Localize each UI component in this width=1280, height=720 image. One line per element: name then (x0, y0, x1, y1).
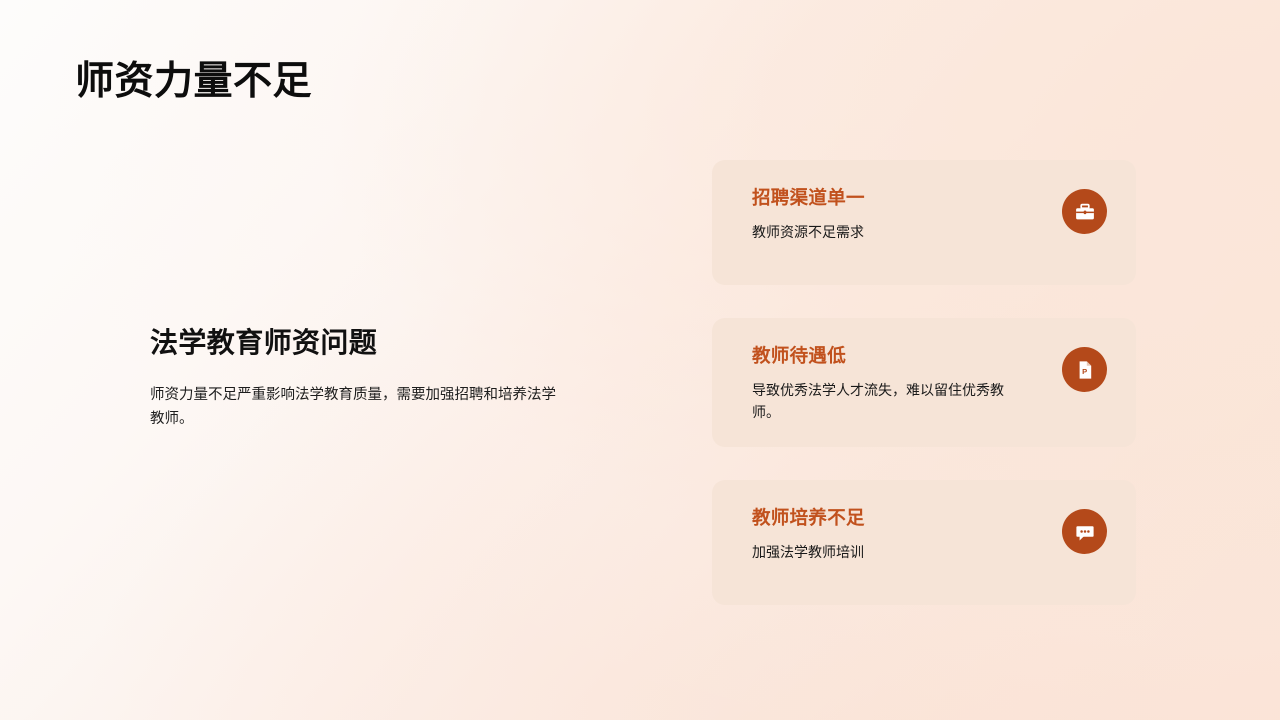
file-p-icon: P (1062, 347, 1107, 392)
card-list: 招聘渠道单一 教师资源不足需求 教师待遇低 导致优秀法学人才流失，难以留住优秀教… (712, 160, 1136, 605)
page-title: 师资力量不足 (75, 57, 312, 107)
card-item[interactable]: 教师待遇低 导致优秀法学人才流失，难以留住优秀教师。 P (712, 318, 1136, 447)
left-heading: 法学教育师资问题 (150, 325, 580, 361)
card-description: 教师资源不足需求 (752, 221, 1014, 243)
card-description: 导致优秀法学人才流失，难以留住优秀教师。 (752, 379, 1014, 423)
card-title: 教师待遇低 (752, 344, 1044, 368)
card-description: 加强法学教师培训 (752, 541, 1014, 563)
svg-text:P: P (1082, 367, 1087, 376)
chat-bubble-icon (1062, 509, 1107, 554)
card-title: 招聘渠道单一 (752, 186, 1044, 210)
slide: 师资力量不足 法学教育师资问题 师资力量不足严重影响法学教育质量，需要加强招聘和… (0, 0, 1280, 720)
card-title: 教师培养不足 (752, 506, 1044, 530)
briefcase-icon (1062, 189, 1107, 234)
left-content-block: 法学教育师资问题 师资力量不足严重影响法学教育质量，需要加强招聘和培养法学教师。 (150, 325, 580, 431)
card-item[interactable]: 教师培养不足 加强法学教师培训 (712, 480, 1136, 605)
card-item[interactable]: 招聘渠道单一 教师资源不足需求 (712, 160, 1136, 285)
left-body-text: 师资力量不足严重影响法学教育质量，需要加强招聘和培养法学教师。 (150, 383, 570, 431)
